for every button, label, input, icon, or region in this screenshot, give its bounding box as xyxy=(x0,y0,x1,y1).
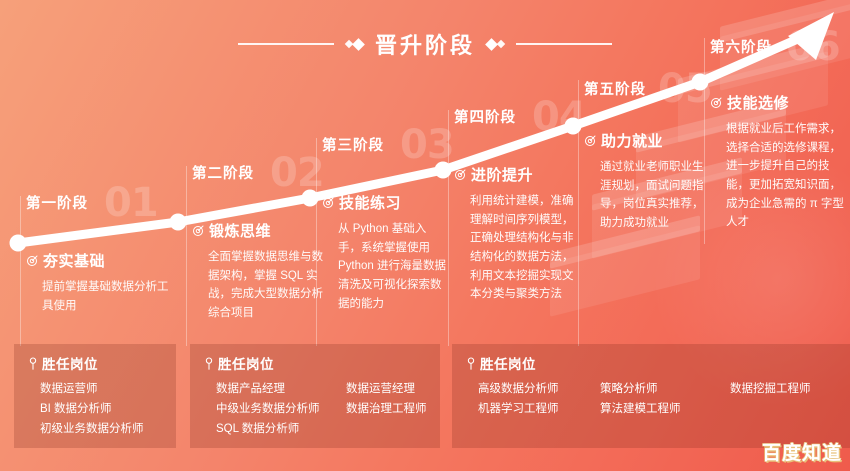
stage-4-number: 04 xyxy=(532,97,586,137)
job-panels: 胜任岗位 数据运营师 BI 数据分析师 初级业务数据分析师 胜任岗位 xyxy=(0,344,850,448)
target-icon xyxy=(454,169,466,181)
stage-3: 第三阶段 03 技能练习 从 Python 基础入手，系统掌握使用 Python… xyxy=(322,134,452,164)
job-panel-2-heading-row: 胜任岗位 xyxy=(190,344,440,373)
job-column: 策略分析师 算法建模工程师 xyxy=(600,380,730,420)
job-item: 算法建模工程师 xyxy=(600,400,730,420)
stage-4-title: 进阶提升 xyxy=(471,164,533,185)
stage-3-number: 03 xyxy=(400,125,454,165)
job-panel-2: 胜任岗位 数据产品经理 中级业务数据分析师 SQL 数据分析师 数据运营经理 数… xyxy=(190,344,440,448)
stage-6-desc: 根据就业后工作需求，选择合适的选修课程，进一步提升自己的技能，更加拓宽知识面，成… xyxy=(710,120,846,232)
job-item: 数据产品经理 xyxy=(216,380,346,400)
job-item: SQL 数据分析师 xyxy=(216,420,346,440)
job-item: 数据运营师 xyxy=(40,380,144,400)
job-panel-1-heading: 胜任岗位 xyxy=(42,353,98,373)
page-title: 晋升阶段 xyxy=(375,28,475,60)
job-column: 高级数据分析师 机器学习工程师 xyxy=(478,380,600,420)
target-icon xyxy=(710,97,722,109)
job-column: 数据挖掘工程师 xyxy=(730,380,811,420)
job-panel-2-heading: 胜任岗位 xyxy=(218,353,274,373)
job-item: 高级数据分析师 xyxy=(478,380,600,400)
divider-line xyxy=(186,166,187,346)
target-icon xyxy=(584,135,596,147)
infographic-poster: 晋升阶段 第一阶段 01 夯实基础 xyxy=(0,0,850,471)
target-icon xyxy=(322,197,334,209)
stage-4-label: 第四阶段 xyxy=(454,106,516,127)
stage-5-label: 第五阶段 xyxy=(584,78,646,99)
job-item: 数据运营经理 xyxy=(346,380,427,400)
job-column: 数据运营师 BI 数据分析师 初级业务数据分析师 xyxy=(40,380,144,439)
job-item: BI 数据分析师 xyxy=(40,400,144,420)
stage-5-title: 助力就业 xyxy=(601,130,663,151)
job-panel-1-heading-row: 胜任岗位 xyxy=(14,344,176,373)
stage-4: 第四阶段 04 进阶提升 利用统计建模，准确理解时间序列模型，正确处理结构化与非… xyxy=(454,106,580,136)
map-pin-icon xyxy=(204,357,214,370)
target-icon xyxy=(26,255,38,267)
stage-1-desc: 提前掌握基础数据分析工具使用 xyxy=(26,278,178,315)
target-icon xyxy=(192,225,204,237)
job-column: 数据产品经理 中级业务数据分析师 SQL 数据分析师 xyxy=(216,380,346,439)
stage-1-label: 第一阶段 xyxy=(26,192,88,213)
job-panel-3: 胜任岗位 高级数据分析师 机器学习工程师 策略分析师 算法建模工程师 数据挖掘工… xyxy=(452,344,850,448)
stage-5-title-row: 助力就业 xyxy=(584,130,706,151)
stage-3-title-row: 技能练习 xyxy=(322,192,448,213)
job-panel-3-heading-row: 胜任岗位 xyxy=(452,344,850,373)
header-rule-left xyxy=(238,43,334,45)
stage-2-number: 02 xyxy=(270,153,324,193)
job-item: 中级业务数据分析师 xyxy=(216,400,346,420)
stage-3-desc: 从 Python 基础入手，系统掌握使用 Python 进行海量数据清洗及可视化… xyxy=(322,220,448,313)
stage-6-number: 06 xyxy=(786,27,840,67)
diamond-icon-left xyxy=(346,40,363,49)
stage-5-number: 05 xyxy=(658,69,712,109)
stage-4-desc: 利用统计建模，准确理解时间序列模型，正确处理结构化与非结构化的数据方法，利用文本… xyxy=(454,192,576,304)
job-item: 机器学习工程师 xyxy=(478,400,600,420)
stage-1: 第一阶段 01 夯实基础 提前掌握基础数据分析工具使用 xyxy=(26,192,176,222)
stage-4-title-row: 进阶提升 xyxy=(454,164,576,185)
stage-3-title: 技能练习 xyxy=(339,192,401,213)
stage-3-label: 第三阶段 xyxy=(322,134,384,155)
job-item: 策略分析师 xyxy=(600,380,730,400)
stage-6-title: 技能选修 xyxy=(727,92,789,113)
job-panel-3-heading: 胜任岗位 xyxy=(480,353,536,373)
job-item: 数据治理工程师 xyxy=(346,400,427,420)
job-item: 数据挖掘工程师 xyxy=(730,380,811,400)
job-column: 数据运营经理 数据治理工程师 xyxy=(346,380,427,439)
watermark: 百度知道 xyxy=(762,438,842,465)
path-node xyxy=(10,235,27,252)
stage-6-label: 第六阶段 xyxy=(710,36,772,57)
header-rule-right xyxy=(516,43,612,45)
job-item: 初级业务数据分析师 xyxy=(40,420,144,440)
stage-5: 第五阶段 05 助力就业 通过就业老师职业生涯规划，面试问题指导，岗位真实推荐，… xyxy=(584,78,706,108)
stage-2-title: 锻炼思维 xyxy=(209,220,271,241)
stage-6-title-row: 技能选修 xyxy=(710,92,846,113)
stage-5-desc: 通过就业老师职业生涯规划，面试问题指导，岗位真实推荐，助力成功就业 xyxy=(584,158,706,233)
stage-2-desc: 全面掌握数据思维与数据架构，掌握 SQL 实战，完成大型数据分析综合项目 xyxy=(192,248,326,323)
stage-1-title: 夯实基础 xyxy=(43,250,105,271)
stage-2-label: 第二阶段 xyxy=(192,162,254,183)
job-panel-1: 胜任岗位 数据运营师 BI 数据分析师 初级业务数据分析师 xyxy=(14,344,176,448)
stage-1-number: 01 xyxy=(104,183,158,223)
stage-6: 第六阶段 06 技能选修 根据就业后工作需求，选择合适的选修课程，进一步提升自己… xyxy=(710,36,844,66)
map-pin-icon xyxy=(28,357,38,370)
divider-line xyxy=(20,196,21,346)
stage-1-title-row: 夯实基础 xyxy=(26,250,178,271)
stage-2-title-row: 锻炼思维 xyxy=(192,220,326,241)
diamond-icon-right xyxy=(487,40,504,49)
stage-2: 第二阶段 02 锻炼思维 全面掌握数据思维与数据架构，掌握 SQL 实战，完成大… xyxy=(192,162,324,192)
map-pin-icon xyxy=(466,357,476,370)
